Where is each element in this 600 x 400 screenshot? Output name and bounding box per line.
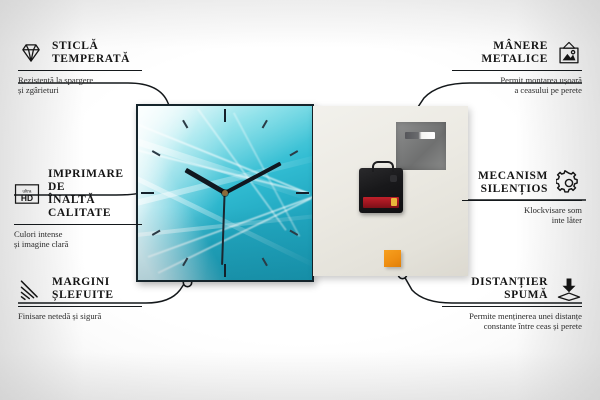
product-image [136,104,468,280]
feature-rule [452,70,582,71]
feature-hd-print: ultra HD IMPRIMARE DE ÎNALTĂ CALITATE Cu… [14,168,142,250]
clock-mechanism [359,168,403,213]
feature-title-line1: MARGINI [52,276,114,289]
feature-title-line1: MECANISM [478,170,548,183]
feature-title-line2: TEMPERATĂ [52,53,130,66]
gear-icon [556,170,582,196]
feature-header: ultra HD IMPRIMARE DE ÎNALTĂ CALITATE [14,168,142,220]
feature-rule [18,306,142,307]
feature-title-line1: DISTANȚIER [471,276,548,289]
feature-header: DISTANȚIER SPUMĂ [442,276,582,302]
clock-tick [225,192,309,194]
clock-tick [141,192,225,194]
feature-title-line2: SILENȚIOS [478,183,548,196]
feature-title-line1: IMPRIMARE DE [48,168,142,194]
mechanism-knob [390,175,397,182]
feature-rule [462,200,582,201]
feature-metal-handles: MÂNERE METALICE Permit montarea ușoară a… [452,40,582,96]
clock-back-panel [313,106,468,276]
feature-rule [18,70,142,71]
feature-rule [442,306,582,307]
feature-rule [14,224,142,225]
feature-subtitle-line1: Permite menținerea unei distanțe [442,311,582,321]
picture-hanger-icon [556,40,582,66]
feature-title-line2: ȘLEFUITE [52,289,114,302]
feature-subtitle-line2: și zgârieturi [18,85,142,95]
feature-title-line1: MÂNERE [481,40,548,53]
feature-title-line2: METALICE [481,53,548,66]
polished-edges-icon [18,276,44,302]
wall-clock-front [136,104,314,282]
clock-center-pin [222,190,228,196]
feature-subtitle-line2: și imagine clară [14,239,142,249]
feature-subtitle-line1: Finisare netedă și sigură [18,311,142,321]
battery [363,197,399,208]
foam-spacer [384,250,401,267]
infographic-canvas: STICLĂ TEMPERATĂ Rezistentă la spargere … [0,0,600,400]
feature-subtitle-line1: Klockvisare som [462,205,582,215]
feature-polished-edges: MARGINI ȘLEFUITE Finisare netedă și sigu… [18,276,142,321]
feature-subtitle-line2: a ceasului pe perete [452,85,582,95]
feature-silent-mechanism: MECANISM SILENȚIOS Klockvisare som inte … [462,170,582,226]
feature-header: MECANISM SILENȚIOS [462,170,582,196]
diamond-icon [18,40,44,66]
feature-header: MÂNERE METALICE [452,40,582,66]
svg-text:HD: HD [21,193,33,203]
feature-subtitle-line2: constante între ceas și perete [442,321,582,331]
foam-spacer-icon [556,276,582,302]
feature-subtitle-line1: Rezistentă la spargere [18,75,142,85]
feature-header: STICLĂ TEMPERATĂ [18,40,142,66]
hanger-loop [372,161,394,172]
hanger-keyhole-slot [405,132,435,139]
feature-foam-spacer: DISTANȚIER SPUMĂ Permite menținerea unei… [442,276,582,332]
feature-title-line2: ÎNALTĂ CALITATE [48,194,142,220]
clock-tick [224,109,226,193]
feature-title-line1: STICLĂ [52,40,130,53]
ultra-hd-badge-icon: ultra HD [14,181,40,207]
metal-hanger-plate [396,122,446,170]
feature-subtitle-line2: inte låter [462,215,582,225]
feature-title-line2: SPUMĂ [471,289,548,302]
feature-header: MARGINI ȘLEFUITE [18,276,142,302]
feature-subtitle-line1: Culori intense [14,229,142,239]
feature-subtitle-line1: Permit montarea ușoară [452,75,582,85]
feature-tempered-glass: STICLĂ TEMPERATĂ Rezistentă la spargere … [18,40,142,96]
